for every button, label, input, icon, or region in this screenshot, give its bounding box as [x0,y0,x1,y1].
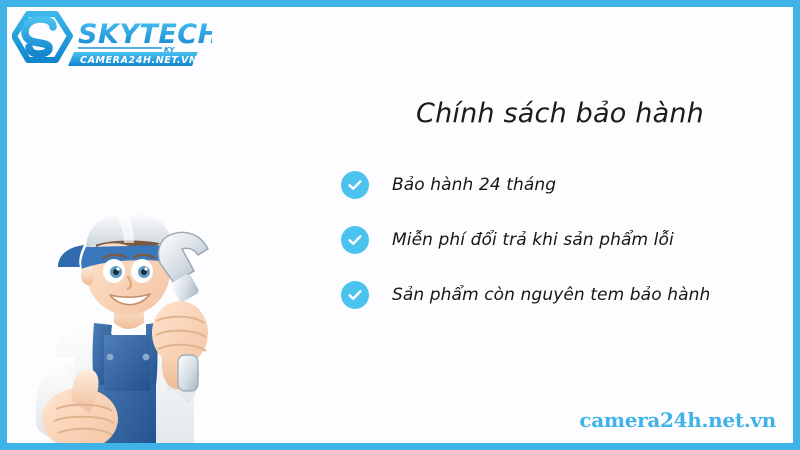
frame-border-top [0,0,800,7]
frame-border-right [793,0,800,450]
brand-logo[interactable]: SKYTECH KY CAMERA24H.NET.VN [12,10,212,68]
list-item-label: Bảo hành 24 tháng [392,175,556,195]
list-item-label: Miễn phí đổi trả khi sản phẩm lỗi [392,230,674,250]
frame-border-bottom [0,443,800,450]
warranty-policy-banner: SKYTECH KY CAMERA24H.NET.VN Chính sách b… [0,0,800,450]
page-title: Chính sách bảo hành [330,98,790,129]
technician-mascot-icon [18,205,248,450]
list-item: Sản phẩm còn nguyên tem bảo hành [341,276,791,314]
logo-subtitle-plate: CAMERA24H.NET.VN [68,52,198,66]
list-item: Miễn phí đổi trả khi sản phẩm lỗi [341,221,791,259]
mascot-fist [152,301,208,365]
list-item: Bảo hành 24 tháng [341,166,791,204]
overall-button [143,354,150,361]
check-circle-icon [341,171,369,199]
hexagon-s-logo-icon [14,14,70,60]
overall-button [107,354,114,361]
frame-border-left [0,0,7,450]
warranty-feature-list: Bảo hành 24 tháng Miễn phí đổi trả khi s… [341,166,791,314]
list-item-label: Sản phẩm còn nguyên tem bảo hành [392,285,710,305]
check-circle-icon [341,226,369,254]
logo-wordmark: SKYTECH [78,19,212,50]
logo-subtitle: CAMERA24H.NET.VN [80,55,198,66]
site-watermark: camera24h.net.vn [579,408,776,432]
check-circle-icon [341,281,369,309]
